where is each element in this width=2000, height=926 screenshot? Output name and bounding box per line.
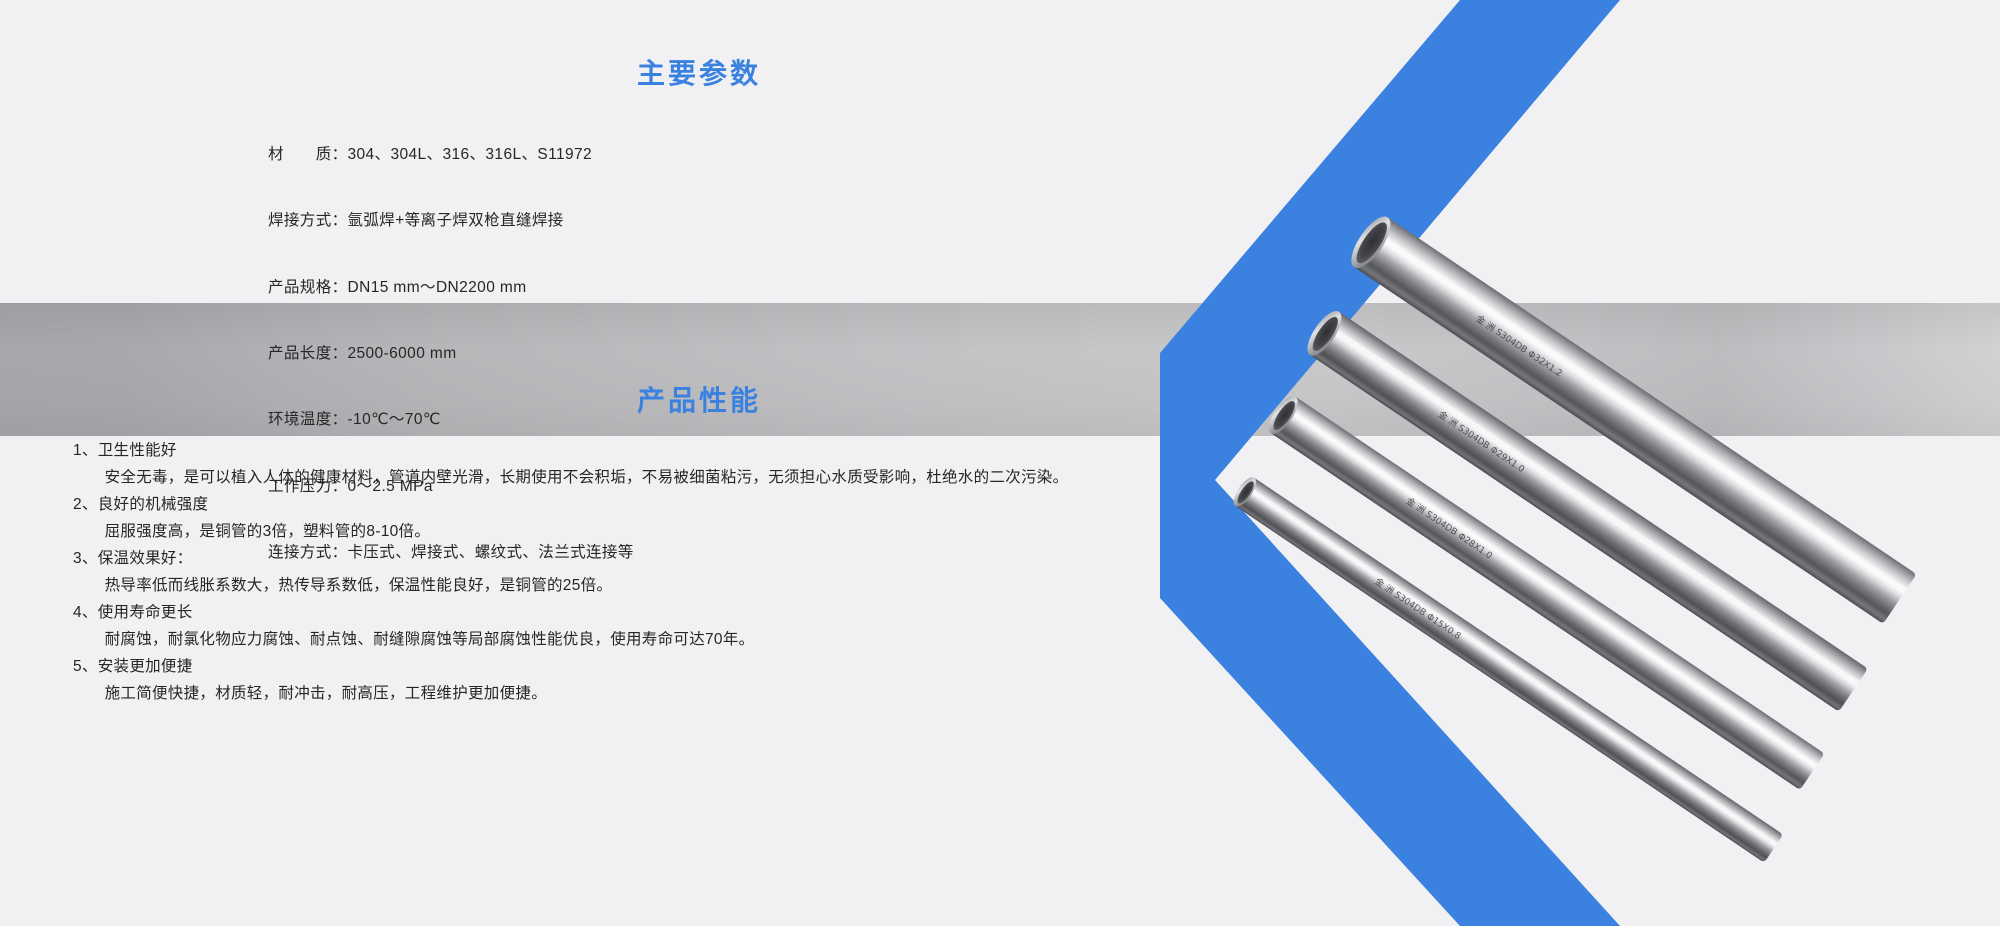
- page-title-performance: 产品性能: [637, 379, 761, 419]
- performance-item-body: 施工简便快捷，材质轻，耐冲击，耐高压，工程维护更加便捷。: [73, 680, 1133, 707]
- parameter-row-length: 产品长度：2500-6000 mm: [268, 343, 634, 365]
- performance-item: 2、良好的机械强度 屈服强度高，是铜管的3倍，塑料管的8-10倍。: [73, 491, 1133, 545]
- page-title-parameters: 主要参数: [637, 52, 761, 92]
- performance-item: 4、使用寿命更长 耐腐蚀，耐氯化物应力腐蚀、耐点蚀、耐缝隙腐蚀等局部腐蚀性能优良…: [73, 599, 1133, 653]
- product-spec-page: 主要参数 产品性能 材 质：304、304L、316、316L、S11972 焊…: [0, 0, 2000, 926]
- performance-item-body: 热导率低而线胀系数大，热传导系数低，保温性能良好，是铜管的25倍。: [73, 572, 1133, 599]
- performance-item: 5、安装更加便捷 施工简便快捷，材质轻，耐冲击，耐高压，工程维护更加便捷。: [73, 653, 1133, 707]
- parameter-row-material: 材 质：304、304L、316、316L、S11972: [268, 144, 634, 166]
- performance-item: 1、卫生性能好 安全无毒，是可以植入人体的健康材料，管道内壁光滑，长期使用不会积…: [73, 437, 1133, 491]
- blue-chevron-icon: 金 洲 S304DB Φ32X1.2 金 洲 S304DB Φ29X1.0 金 …: [1160, 0, 2000, 926]
- pipe-label-4: 金 洲 S304DB Φ15X0.8: [1372, 575, 1463, 642]
- performance-item-heading: 4、使用寿命更长: [73, 599, 1133, 626]
- product-photo: 金 洲 S304DB Φ32X1.2 金 洲 S304DB Φ29X1.0 金 …: [1160, 0, 2000, 926]
- performance-item-heading: 3、保温效果好：: [73, 545, 1133, 572]
- performance-item-body: 安全无毒，是可以植入人体的健康材料，管道内壁光滑，长期使用不会积垢，不易被细菌粘…: [73, 464, 1133, 491]
- parameter-row-temperature: 环境温度：-10℃～70℃: [268, 409, 634, 431]
- performance-item: 3、保温效果好： 热导率低而线胀系数大，热传导系数低，保温性能良好，是铜管的25…: [73, 545, 1133, 599]
- performance-item-heading: 2、良好的机械强度: [73, 491, 1133, 518]
- parameter-row-welding: 焊接方式：氩弧焊+等离子焊双枪直缝焊接: [268, 210, 634, 232]
- parameter-row-specification: 产品规格：DN15 mm～DN2200 mm: [268, 277, 634, 299]
- performance-item-heading: 5、安装更加便捷: [73, 653, 1133, 680]
- performance-item-body: 屈服强度高，是铜管的3倍，塑料管的8-10倍。: [73, 518, 1133, 545]
- performance-item-heading: 1、卫生性能好: [73, 437, 1133, 464]
- performance-list: 1、卫生性能好 安全无毒，是可以植入人体的健康材料，管道内壁光滑，长期使用不会积…: [73, 437, 1133, 707]
- performance-item-body: 耐腐蚀，耐氯化物应力腐蚀、耐点蚀、耐缝隙腐蚀等局部腐蚀性能优良，使用寿命可达70…: [73, 626, 1133, 653]
